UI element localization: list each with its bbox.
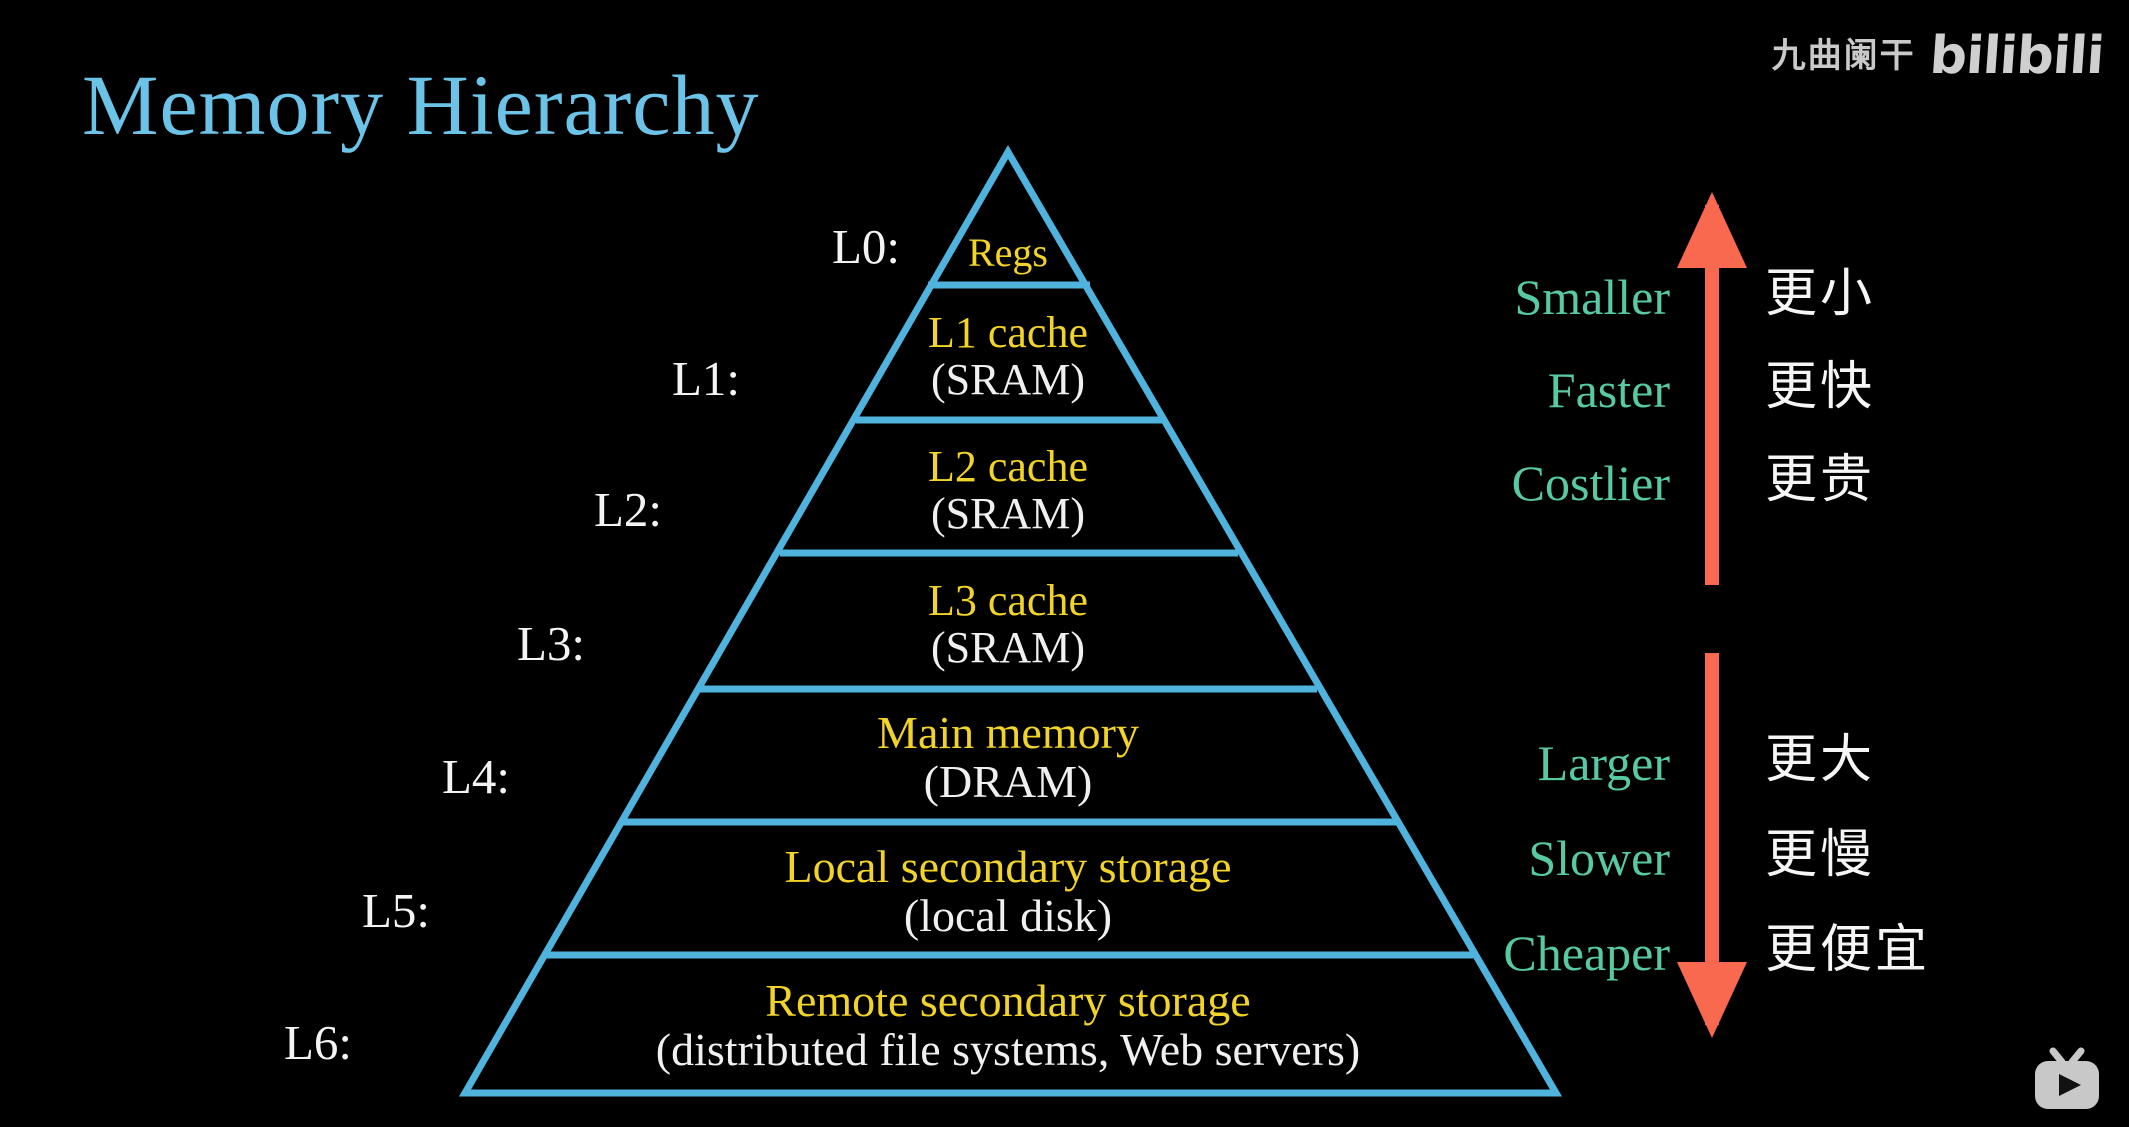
annotation-up-en-2: Costlier	[1370, 458, 1670, 508]
level-label-l4: L4:	[230, 752, 510, 801]
annotation-up-en-0: Smaller	[1370, 272, 1670, 322]
annotation-up-zh-0: 更小	[1765, 268, 1875, 320]
level-label-l6: L6:	[72, 1018, 352, 1067]
level-label-l5: L5:	[150, 886, 430, 935]
annotation-down-en-0: Larger	[1370, 738, 1670, 788]
level-label-l3: L3:	[305, 619, 585, 668]
arrow-up-icon	[1677, 192, 1747, 585]
level-label-l1: L1:	[460, 354, 740, 403]
annotation-up-en-1: Faster	[1370, 365, 1670, 415]
annotation-down-en-1: Slower	[1370, 833, 1670, 883]
annotation-down-en-2: Cheaper	[1370, 928, 1670, 978]
level-label-l0: L0:	[620, 222, 900, 271]
annotation-down-zh-0: 更大	[1765, 734, 1875, 786]
annotation-up-zh-1: 更快	[1765, 361, 1875, 413]
level-label-l2: L2:	[382, 485, 662, 534]
arrow-down-icon	[1677, 653, 1747, 1038]
annotation-down-zh-2: 更便宜	[1765, 924, 1930, 976]
annotation-up-zh-2: 更贵	[1765, 454, 1875, 506]
annotation-down-zh-1: 更慢	[1765, 829, 1875, 881]
slide-canvas: Memory Hierarchy 九曲阑干 bilibili Regs L1 c…	[0, 0, 2129, 1127]
bilibili-tv-icon[interactable]	[2029, 1047, 2105, 1113]
